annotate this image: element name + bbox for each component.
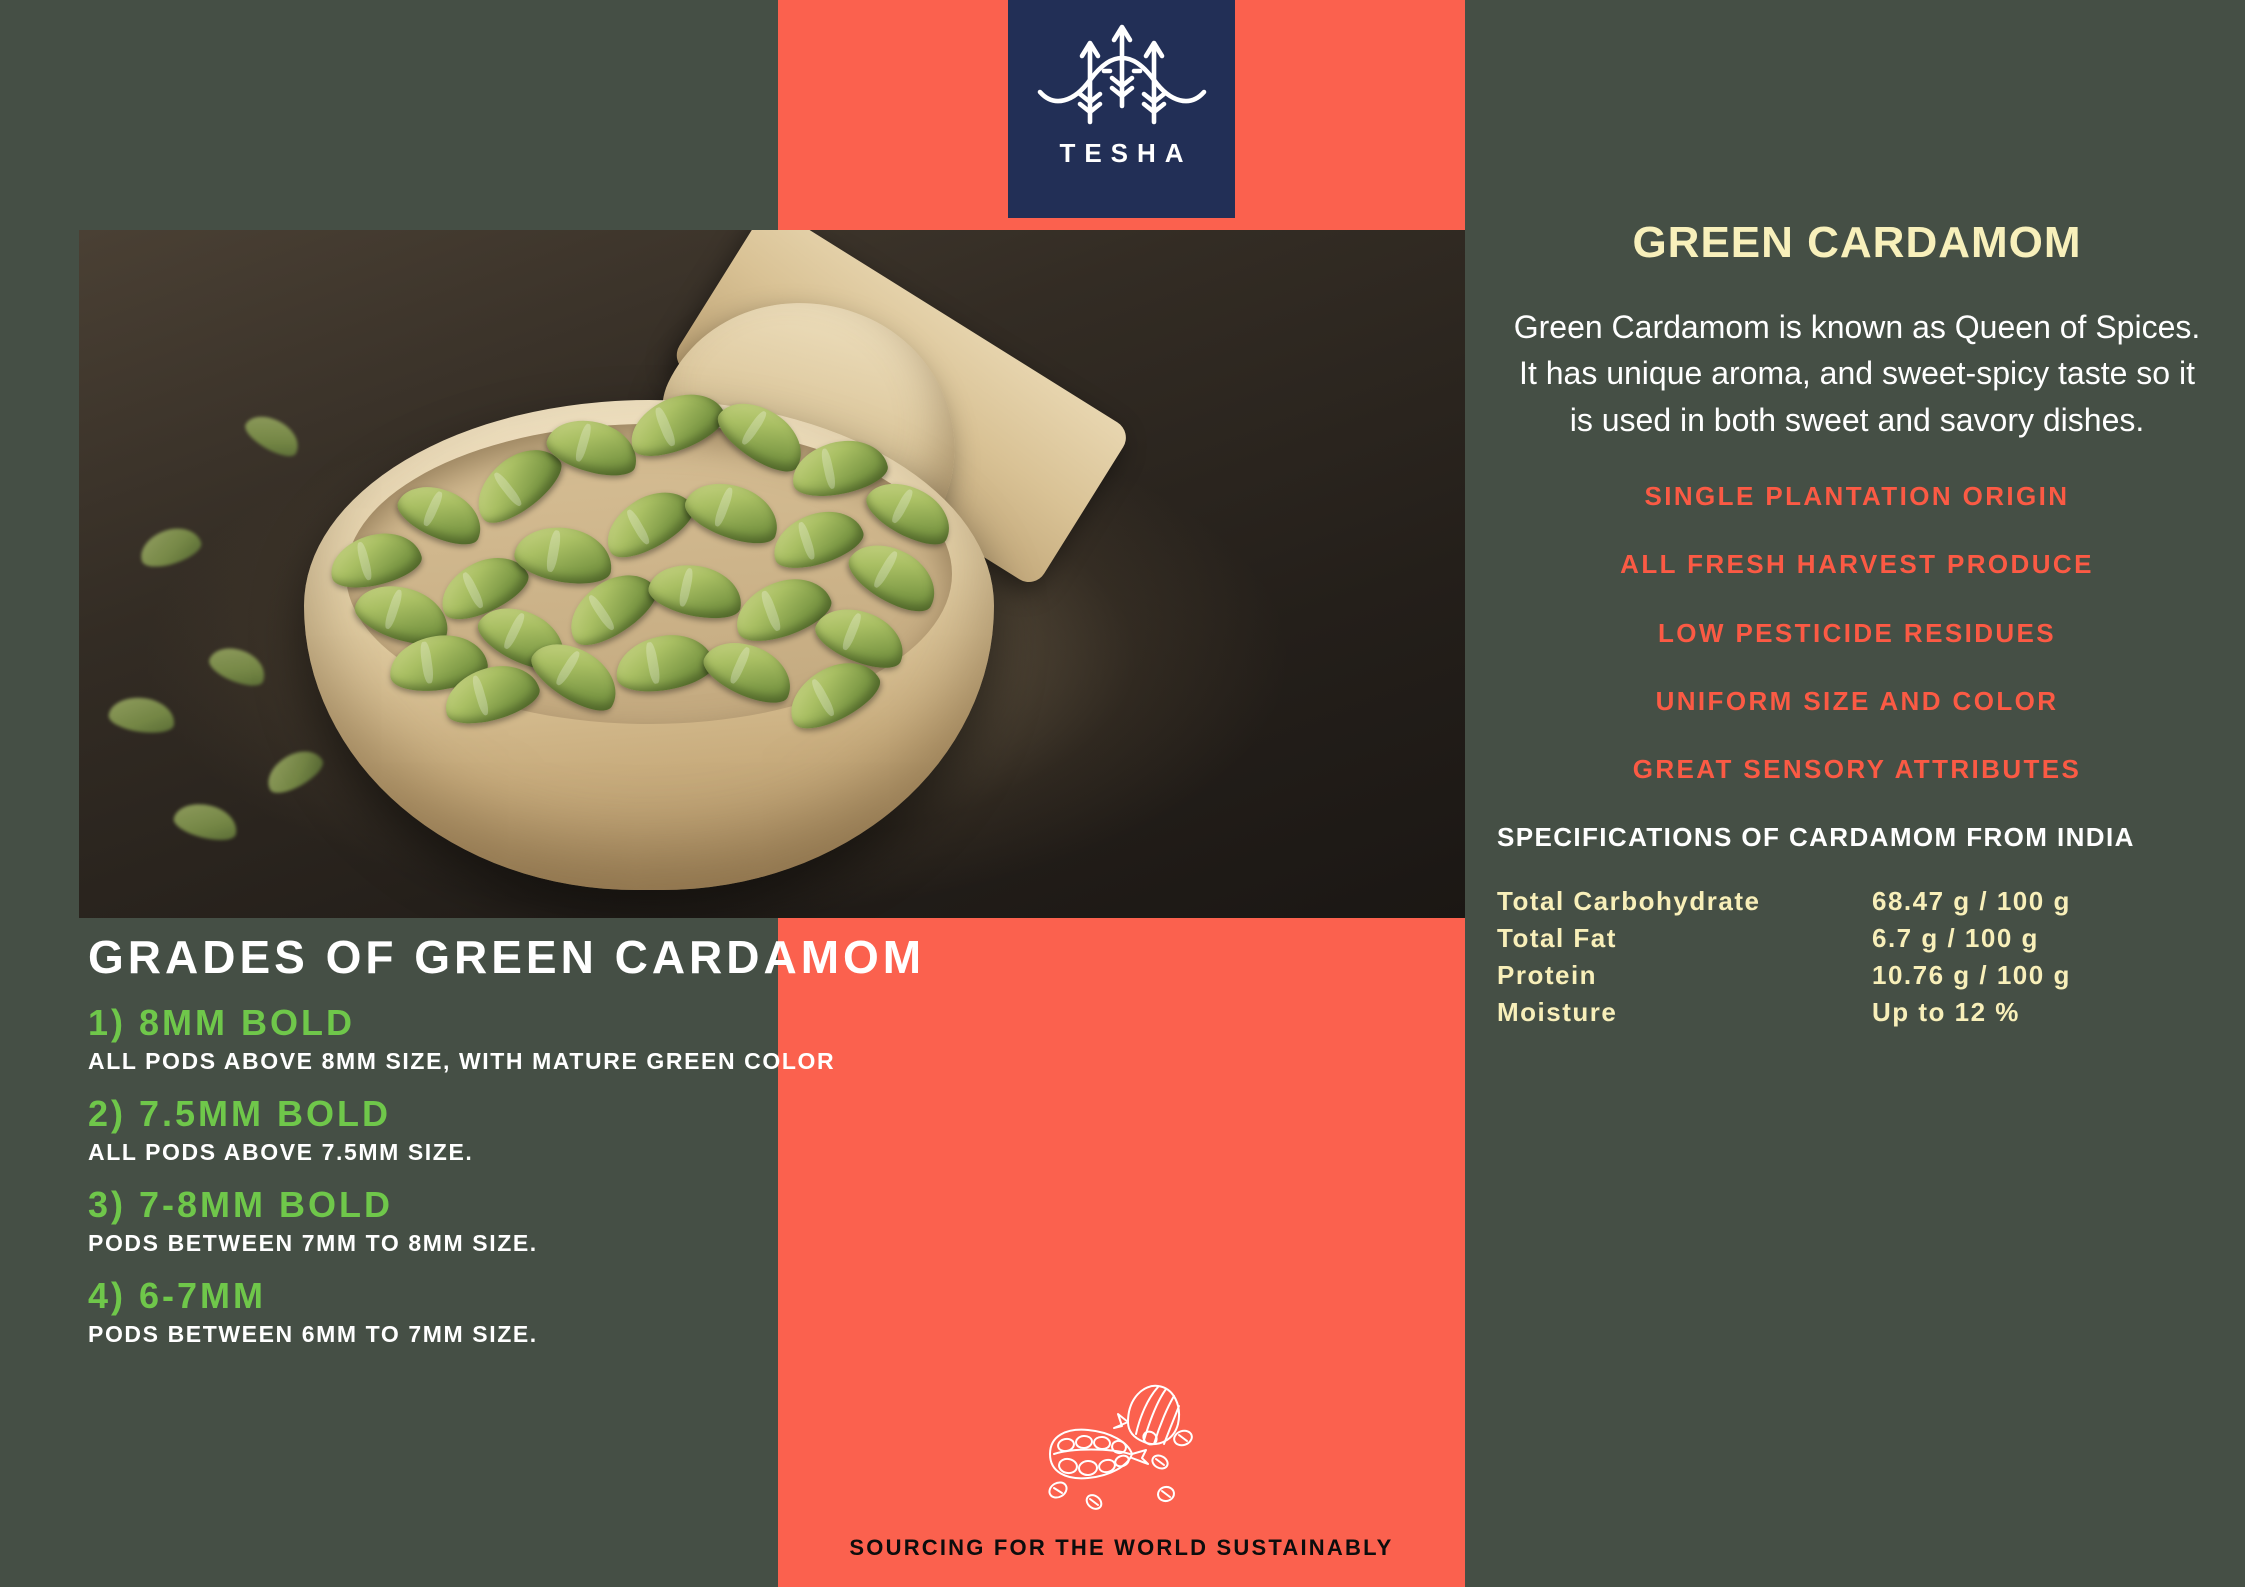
grade-item: 4) 6-7MM PODS BETWEEN 6MM TO 7MM SIZE. (88, 1275, 1268, 1348)
spec-label: Total Fat (1497, 920, 1872, 957)
grade-item: 3) 7-8MM BOLD PODS BETWEEN 7MM TO 8MM SI… (88, 1184, 1268, 1257)
page-title: GREEN CARDAMOM (1497, 218, 2217, 268)
product-description: Green Cardamom is known as Queen of Spic… (1511, 304, 2203, 443)
grade-description: ALL PODS ABOVE 7.5MM SIZE. (88, 1139, 1268, 1166)
spec-value: 68.47 g / 100 g (1872, 883, 2217, 920)
table-row: Moisture Up to 12 % (1497, 994, 2217, 1031)
table-row: Total Carbohydrate 68.47 g / 100 g (1497, 883, 2217, 920)
grade-item: 1) 8MM BOLD ALL PODS ABOVE 8MM SIZE, WIT… (88, 1002, 1268, 1075)
right-column: GREEN CARDAMOM Green Cardamom is known a… (1497, 0, 2217, 1587)
feature-item: GREAT SENSORY ATTRIBUTES (1507, 752, 2207, 786)
grade-description: PODS BETWEEN 6MM TO 7MM SIZE. (88, 1321, 1268, 1348)
grades-section: GRADES OF GREEN CARDAMOM 1) 8MM BOLD ALL… (88, 918, 1268, 1348)
grade-description: PODS BETWEEN 7MM TO 8MM SIZE. (88, 1230, 1268, 1257)
grade-name: 3) 7-8MM BOLD (88, 1184, 1268, 1226)
spec-value: Up to 12 % (1872, 994, 2217, 1031)
spec-label: Moisture (1497, 994, 1872, 1031)
grade-name: 1) 8MM BOLD (88, 1002, 1268, 1044)
infographic-page: TESHA (0, 0, 2245, 1587)
spec-label: Total Carbohydrate (1497, 883, 1872, 920)
spec-value: 10.76 g / 100 g (1872, 957, 2217, 994)
feature-item: ALL FRESH HARVEST PRODUCE (1507, 547, 2207, 581)
grade-description: ALL PODS ABOVE 8MM SIZE, WITH MATURE GRE… (88, 1048, 1268, 1075)
feature-list: SINGLE PLANTATION ORIGIN ALL FRESH HARVE… (1497, 479, 2217, 787)
grades-title: GRADES OF GREEN CARDAMOM (88, 930, 1268, 984)
three-arrows-wave-logo-icon (1032, 14, 1212, 134)
cardamom-pod-line-art-icon (1032, 1378, 1212, 1528)
grade-item: 2) 7.5MM BOLD ALL PODS ABOVE 7.5MM SIZE. (88, 1093, 1268, 1166)
table-row: Protein 10.76 g / 100 g (1497, 957, 2217, 994)
table-row: Total Fat 6.7 g / 100 g (1497, 920, 2217, 957)
cardamom-photo (79, 230, 1465, 918)
grade-name: 2) 7.5MM BOLD (88, 1093, 1268, 1135)
spec-value: 6.7 g / 100 g (1872, 920, 2217, 957)
feature-item: SINGLE PLANTATION ORIGIN (1507, 479, 2207, 513)
spec-label: Protein (1497, 957, 1872, 994)
footer-tagline: SOURCING FOR THE WORLD SUSTAINABLY (778, 1535, 1465, 1561)
grade-name: 4) 6-7MM (88, 1275, 1268, 1317)
specifications-heading: SPECIFICATIONS OF CARDAMOM FROM INDIA (1497, 821, 2217, 854)
logo-wordmark: TESHA (1050, 138, 1192, 169)
brand-logo: TESHA (1008, 0, 1235, 218)
feature-item: UNIFORM SIZE AND COLOR (1507, 684, 2207, 718)
feature-item: LOW PESTICIDE RESIDUES (1507, 616, 2207, 650)
cardamom-pod-heap (319, 350, 979, 720)
specifications-table: Total Carbohydrate 68.47 g / 100 g Total… (1497, 883, 2217, 1031)
